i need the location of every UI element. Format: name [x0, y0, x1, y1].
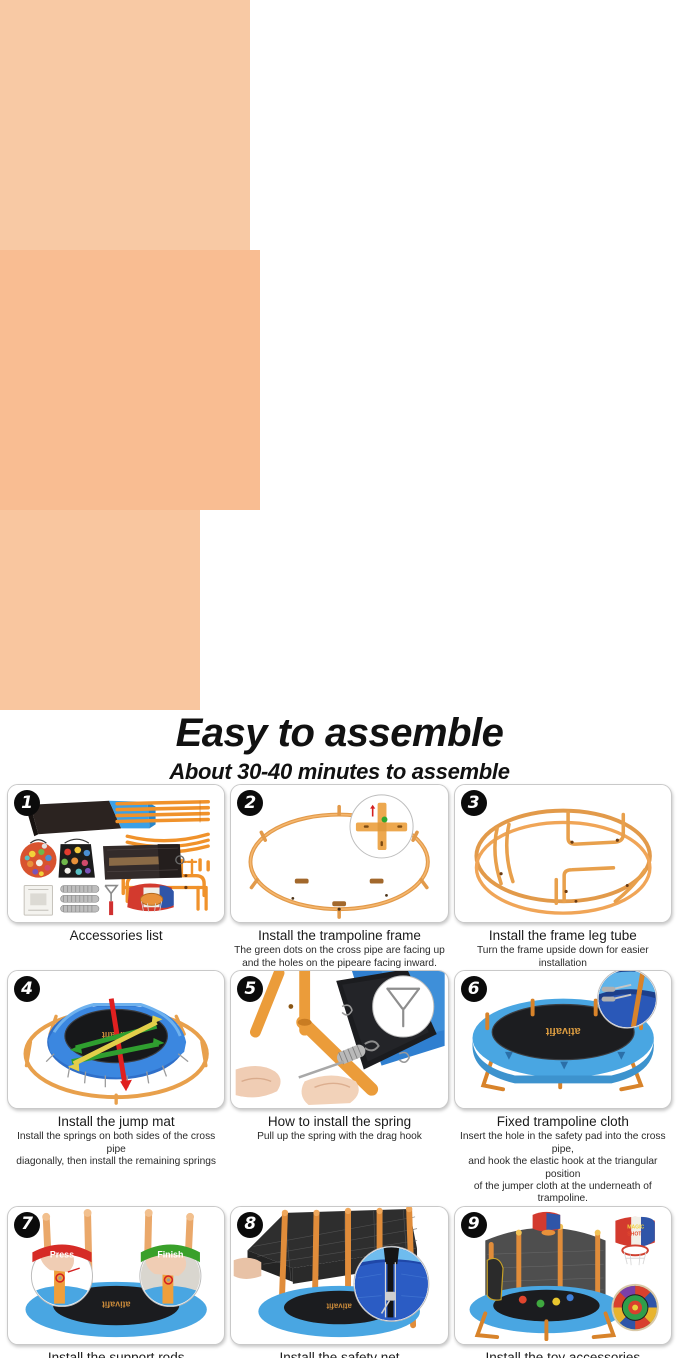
step-cell-8: 8 [230, 1206, 448, 1358]
step-title-4: Install the jump mat [7, 1114, 225, 1130]
step-card-4: 4 [7, 970, 225, 1109]
jump-mat-illustration: ativafit [8, 971, 224, 1108]
step-caption-6: Fixed trampoline cloth Insert the hole i… [454, 1114, 672, 1206]
step-card-5: 5 [230, 970, 448, 1109]
step-cell-9: 9 [454, 1206, 672, 1358]
step-badge-6: 6 [461, 976, 487, 1002]
step-card-9: 9 [454, 1206, 672, 1345]
step-title-2: Install the trampoline frame [230, 928, 448, 944]
step-caption-3: Install the frame leg tube Turn the fram… [454, 928, 672, 970]
svg-text:Press: Press [50, 1249, 74, 1259]
step-title-1: Accessories list [7, 928, 225, 944]
step-card-2: 2 [230, 784, 448, 923]
step-cell-4: 4 [7, 970, 225, 1206]
svg-text:ativafit: ativafit [545, 1025, 580, 1037]
step-badge-4: 4 [14, 976, 40, 1002]
accessories-illustration [8, 785, 224, 922]
step-cell-7: 7 [7, 1206, 225, 1358]
step-title-8: Install the safety net [230, 1350, 448, 1358]
step-badge-9: 9 [461, 1212, 487, 1238]
step-cell-3: 3 [454, 784, 672, 970]
page-subtitle: About 30-40 minutes to assemble [0, 759, 679, 785]
step-card-8: 8 [230, 1206, 448, 1345]
svg-text:ativafit: ativafit [326, 1301, 352, 1310]
step-subtitle-6: Insert the hole in the safety pad into t… [454, 1131, 672, 1206]
toy-accessories-illustration: MAGIC SHOT [455, 1207, 671, 1344]
steps-grid: 1 [0, 784, 679, 1358]
step-cell-6: 6 ativ [454, 970, 672, 1206]
safety-pad-illustration: ativafit [455, 971, 671, 1108]
spring-install-illustration [231, 971, 447, 1108]
svg-text:SHOT: SHOT [627, 1231, 642, 1237]
support-rods-illustration: ativafit [8, 1207, 224, 1344]
step-subtitle-3: Turn the frame upside down for easier in… [454, 945, 672, 970]
decorative-circle-top-left-back [0, 0, 250, 250]
step-cell-1: 1 [7, 784, 225, 970]
step-card-7: 7 [7, 1206, 225, 1345]
step-title-5: How to install the spring [230, 1114, 448, 1130]
step-cell-2: 2 [230, 784, 448, 970]
header: Easy to assemble About 30-40 minutes to … [0, 710, 679, 785]
decorative-circle-bottom-right [0, 510, 200, 710]
decorative-circle-top-left-front [0, 250, 260, 510]
svg-text:ativafit: ativafit [102, 1299, 131, 1309]
step-subtitle-5: Pull up the spring with the drag hook [230, 1131, 448, 1143]
leg-tube-illustration [455, 785, 671, 922]
step-badge-1: 1 [14, 790, 40, 816]
step-badge-7: 7 [14, 1212, 40, 1238]
step-card-1: 1 [7, 784, 225, 923]
step-caption-1: Accessories list [7, 928, 225, 945]
step-subtitle-4: Install the springs on both sides of the… [7, 1131, 225, 1168]
step-caption-2: Install the trampoline frame The green d… [230, 928, 448, 970]
step-title-3: Install the frame leg tube [454, 928, 672, 944]
svg-text:MAGIC: MAGIC [627, 1225, 644, 1231]
step-title-6: Fixed trampoline cloth [454, 1114, 672, 1130]
step-card-6: 6 ativ [454, 970, 672, 1109]
step-badge-3: 3 [461, 790, 487, 816]
step-caption-5: How to install the spring Pull up the sp… [230, 1114, 448, 1144]
step-caption-7: Install the support rods Insert the end … [7, 1350, 225, 1358]
step-caption-8: Install the safety net Stack the safety … [230, 1350, 448, 1358]
step-card-3: 3 [454, 784, 672, 923]
step-caption-9: Install the toy accessories When install… [454, 1350, 672, 1358]
step-title-9: Install the toy accessories [454, 1350, 672, 1358]
step-subtitle-2: The green dots on the cross pipe are fac… [230, 945, 448, 970]
page-title: Easy to assemble [0, 712, 679, 754]
step-caption-4: Install the jump mat Install the springs… [7, 1114, 225, 1169]
step-cell-5: 5 [230, 970, 448, 1206]
infographic-page: Easy to assemble About 30-40 minutes to … [0, 710, 679, 1358]
svg-text:Finish: Finish [157, 1249, 183, 1259]
frame-ring-illustration [231, 785, 447, 922]
step-title-7: Install the support rods [7, 1350, 225, 1358]
safety-net-illustration: ativafit [231, 1207, 447, 1344]
